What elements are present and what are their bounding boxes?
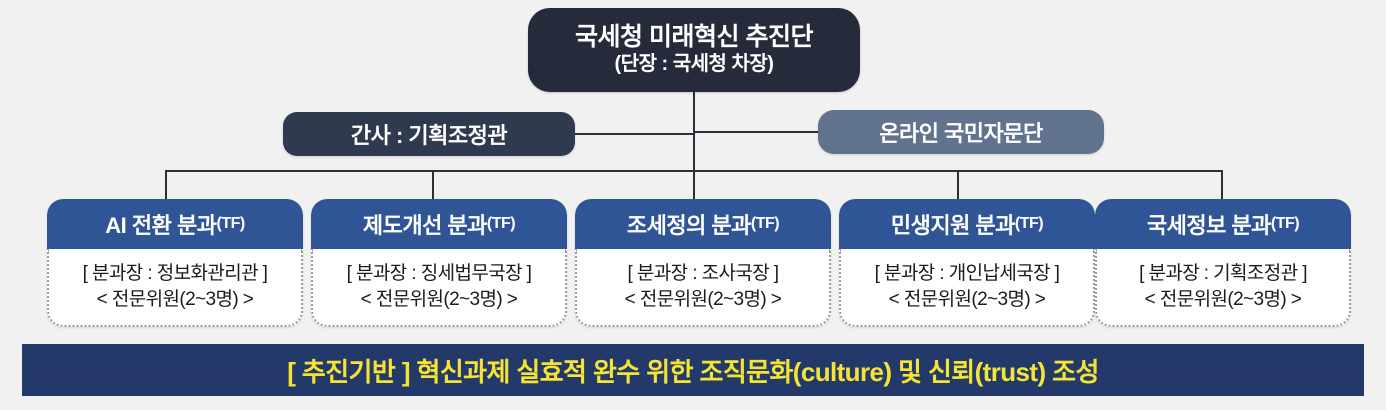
org-chart-canvas: 국세청 미래혁신 추진단 (단장 : 국세청 차장) 간사 : 기획조정관 온라… [0, 0, 1386, 410]
connector-to-secretary [574, 133, 694, 135]
division-chief-5: [ 분과장 : 기획조정관 ] [1139, 262, 1307, 286]
connector-to-advisory [693, 131, 819, 133]
division-body-1: [ 분과장 : 정보화관리관 ] < 전문위원(2~3명) > [47, 249, 303, 327]
foundation-banner-text: [ 추진기반 ] 혁신과제 실효적 완수 위한 조직문화(culture) 및 … [287, 352, 1099, 389]
division-body-4: [ 분과장 : 개인납세국장 ] < 전문위원(2~3명) > [839, 249, 1095, 327]
division-name-5: 국세정보 분과 [1147, 208, 1271, 240]
division-card-4: 민생지원 분과(TF) [ 분과장 : 개인납세국장 ] < 전문위원(2~3명… [839, 199, 1095, 327]
division-body-5: [ 분과장 : 기획조정관 ] < 전문위원(2~3명) > [1095, 249, 1351, 327]
division-chief-2: [ 분과장 : 징세법무국장 ] [347, 262, 532, 286]
division-chief-3: [ 분과장 : 조사국장 ] [628, 262, 779, 286]
division-suffix-2: (TF) [487, 215, 515, 233]
division-card-1: AI 전환 분과(TF) [ 분과장 : 정보화관리관 ] < 전문위원(2~3… [47, 199, 303, 327]
division-card-3: 조세정의 분과(TF) [ 분과장 : 조사국장 ] < 전문위원(2~3명) … [575, 199, 831, 327]
division-chief-4: [ 분과장 : 개인납세국장 ] [875, 262, 1060, 286]
top-organization-box: 국세청 미래혁신 추진단 (단장 : 국세청 차장) [528, 8, 860, 92]
connector-drop-1 [165, 170, 167, 200]
top-subtitle: (단장 : 국세청 차장) [615, 51, 774, 77]
connector-drop-2 [432, 170, 434, 200]
secretary-box: 간사 : 기획조정관 [283, 112, 575, 156]
division-chief-1: [ 분과장 : 정보화관리관 ] [83, 262, 268, 286]
division-members-2: < 전문위원(2~3명) > [361, 288, 518, 312]
division-members-4: < 전문위원(2~3명) > [889, 288, 1046, 312]
connector-drop-4 [957, 170, 959, 200]
top-title: 국세청 미래혁신 추진단 [575, 23, 813, 52]
division-name-4: 민생지원 분과 [891, 208, 1015, 240]
division-name-3: 조세정의 분과 [627, 208, 751, 240]
advisory-label: 온라인 국민자문단 [879, 116, 1043, 148]
division-suffix-3: (TF) [751, 215, 779, 233]
division-header-1: AI 전환 분과(TF) [47, 199, 303, 249]
connector-drop-5 [1221, 170, 1223, 200]
division-suffix-1: (TF) [216, 215, 244, 233]
division-card-5: 국세정보 분과(TF) [ 분과장 : 기획조정관 ] < 전문위원(2~3명)… [1095, 199, 1351, 327]
division-members-1: < 전문위원(2~3명) > [97, 288, 254, 312]
division-header-2: 제도개선 분과(TF) [311, 199, 567, 249]
division-body-3: [ 분과장 : 조사국장 ] < 전문위원(2~3명) > [575, 249, 831, 327]
division-card-2: 제도개선 분과(TF) [ 분과장 : 징세법무국장 ] < 전문위원(2~3명… [311, 199, 567, 327]
division-members-5: < 전문위원(2~3명) > [1145, 288, 1302, 312]
division-name-2: 제도개선 분과 [363, 208, 487, 240]
secretary-label: 간사 : 기획조정관 [351, 118, 507, 150]
division-header-5: 국세정보 분과(TF) [1095, 199, 1351, 249]
division-body-2: [ 분과장 : 징세법무국장 ] < 전문위원(2~3명) > [311, 249, 567, 327]
advisory-box: 온라인 국민자문단 [818, 110, 1104, 154]
division-suffix-4: (TF) [1015, 215, 1043, 233]
division-name-1: AI 전환 분과 [105, 208, 216, 240]
foundation-banner: [ 추진기반 ] 혁신과제 실효적 완수 위한 조직문화(culture) 및 … [22, 344, 1364, 396]
division-header-4: 민생지원 분과(TF) [839, 199, 1095, 249]
division-members-3: < 전문위원(2~3명) > [625, 288, 782, 312]
connector-drop-3 [693, 170, 695, 200]
division-header-3: 조세정의 분과(TF) [575, 199, 831, 249]
division-suffix-5: (TF) [1271, 215, 1299, 233]
